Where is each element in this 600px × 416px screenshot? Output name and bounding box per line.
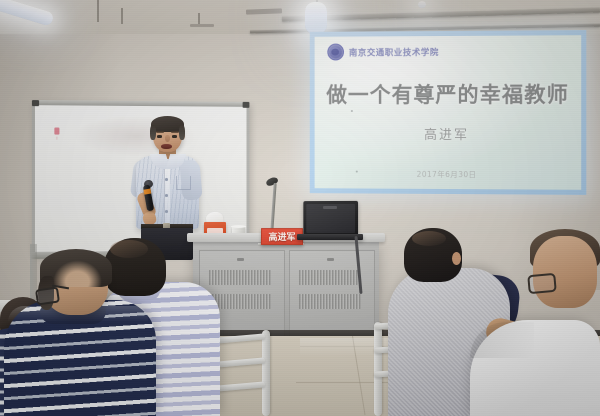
light-drop-rod [121,8,123,24]
whiteboard-corner [243,102,250,108]
laptop-brand-badge [323,206,337,209]
audience-member-head [533,236,597,308]
fluorescent-tube-light [305,2,327,34]
ceiling-fixture [190,24,214,27]
audience-member-ear [452,252,461,265]
slide-presenter-name: 高进军 [315,124,582,143]
whiteboard-marker-mark [54,128,59,135]
speaker-eye [157,135,162,138]
speaker-eyebrow [156,131,164,133]
whiteboard-frame-top [32,100,250,107]
chair-post [374,322,382,416]
dust-speck [356,171,358,173]
speaker-mouth [161,144,172,149]
ceiling-lamp-icon [418,1,426,8]
slide-date: 2017年6月30日 [315,168,582,180]
audience-member-hair [110,240,148,258]
slide-institution-logo: 南京交通职业技术学院 [327,43,439,60]
speaker-hair-side [150,125,156,140]
shirt-button [165,178,168,181]
eyeglasses-icon [527,273,557,294]
eyeglasses-icon [35,286,60,305]
whiteboard-corner [32,100,39,106]
laptop-lid [303,201,358,235]
slide-institution-name: 南京交通职业技术学院 [349,46,439,58]
nameplate-text: 高进军 [268,230,295,243]
shirt-button [165,210,168,213]
shirt-button [165,194,168,197]
podium-vent [299,270,361,285]
podium-vent [299,294,361,309]
speaker-hair-side [179,125,185,140]
slide-title: 做一个有尊严的幸福教师 [315,79,582,109]
cup-rim [231,225,246,228]
podium-handle[interactable] [327,258,334,261]
podium-vent [209,270,271,285]
circular-seal-icon [327,44,344,61]
audience-member-hair [412,231,446,246]
microphone-band [143,189,151,195]
chair-post [262,330,270,416]
lecture-hall-photo: 南京交通职业技术学院 做一个有尊严的幸福教师 高进军 2017年6月30日 [0,0,600,416]
projected-slide: 南京交通职业技术学院 做一个有尊严的幸福教师 高进军 2017年6月30日 [315,35,582,190]
podium-handle[interactable] [237,258,244,261]
dust-speck [351,110,353,112]
speaker-nose [165,135,170,142]
speaker-shirt-pocket [176,176,191,190]
laptop-base [297,234,363,240]
projection-screen: 南京交通职业技术学院 做一个有尊严的幸福教师 高进军 2017年6月30日 [310,30,587,195]
light-drop-rod [97,0,99,22]
speaker-eyebrow [171,131,179,133]
speaker-eye [172,135,177,138]
